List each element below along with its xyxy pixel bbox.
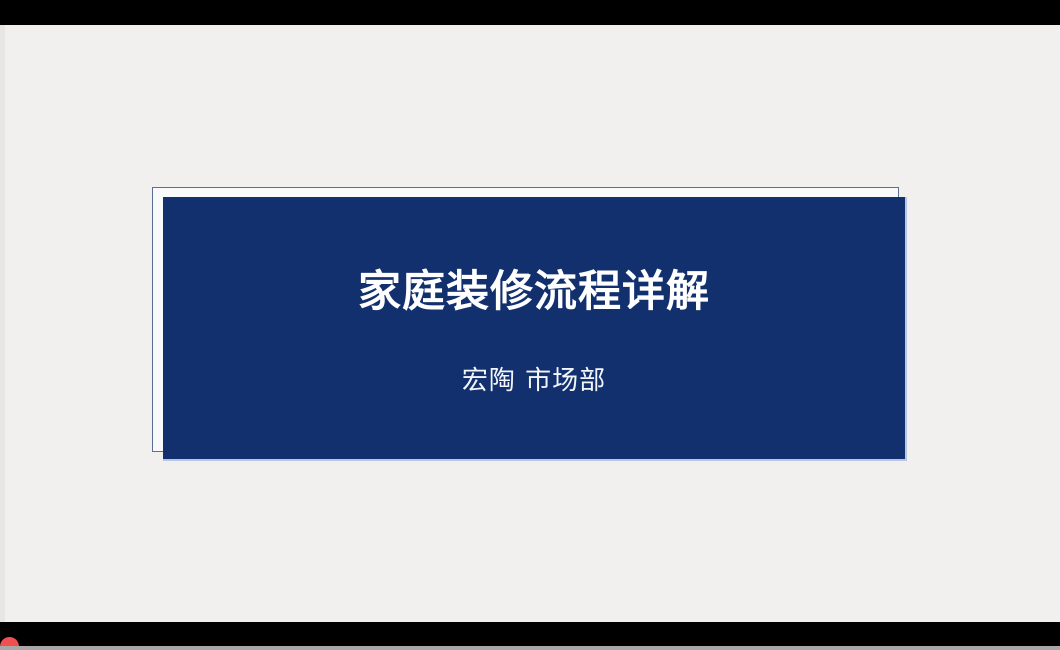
slide-left-edge-shade bbox=[0, 25, 5, 622]
title-card: 家庭装修流程详解 宏陶 市场部 bbox=[163, 197, 907, 461]
letterbox-bar-top bbox=[0, 0, 1060, 25]
slide-subtitle: 宏陶 市场部 bbox=[462, 316, 606, 397]
player-progress-strip[interactable] bbox=[0, 646, 1060, 650]
page-title: 家庭装修流程详解 bbox=[358, 197, 710, 316]
video-player-screen: 家庭装修流程详解 宏陶 市场部 bbox=[0, 0, 1060, 650]
